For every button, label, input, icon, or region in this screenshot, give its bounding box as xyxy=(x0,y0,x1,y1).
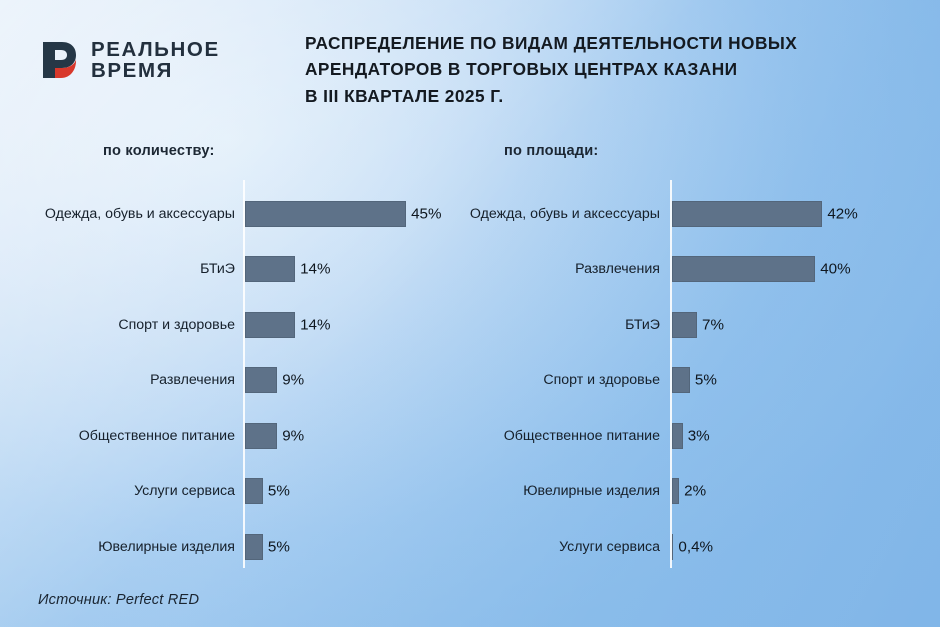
bar-category-label: БТиЭ xyxy=(445,316,660,334)
bar-row: Спорт и здоровье5% xyxy=(470,353,940,409)
bar-row: Общественное питание9% xyxy=(0,408,470,464)
page-title-line-3: В III КВАРТАЛЕ 2025 Г. xyxy=(305,83,920,109)
chart-title-by-count: по количеству: xyxy=(103,143,215,159)
brand-logo: РЕАЛЬНОЕ ВРЕМЯ xyxy=(38,38,220,82)
bar-category-label: Одежда, обувь и аксессуары xyxy=(20,205,235,223)
infographic-page: РЕАЛЬНОЕ ВРЕМЯ РАСПРЕДЕЛЕНИЕ ПО ВИДАМ ДЕ… xyxy=(0,0,940,627)
page-title-line-1: РАСПРЕДЕЛЕНИЕ ПО ВИДАМ ДЕЯТЕЛЬНОСТИ НОВЫ… xyxy=(305,30,920,56)
bar-category-label: БТиЭ xyxy=(20,260,235,278)
chart-panel-by-area: по площади: Одежда, обувь и аксессуары42… xyxy=(470,138,940,568)
bar-row: БТиЭ7% xyxy=(470,297,940,353)
bar-row: БТиЭ14% xyxy=(0,242,470,298)
bar-category-label: Услуги сервиса xyxy=(445,538,660,556)
header: РЕАЛЬНОЕ ВРЕМЯ РАСПРЕДЕЛЕНИЕ ПО ВИДАМ ДЕ… xyxy=(0,0,940,126)
bar xyxy=(245,256,295,282)
page-title: РАСПРЕДЕЛЕНИЕ ПО ВИДАМ ДЕЯТЕЛЬНОСТИ НОВЫ… xyxy=(305,30,920,109)
bar-category-label: Одежда, обувь и аксессуары xyxy=(445,205,660,223)
bar-category-label: Спорт и здоровье xyxy=(20,316,235,334)
bar-category-label: Услуги сервиса xyxy=(20,482,235,500)
bar-row: Одежда, обувь и аксессуары45% xyxy=(0,186,470,242)
bar-value-label: 3% xyxy=(688,427,710,444)
chart-title-by-area: по площади: xyxy=(504,143,599,159)
realnoe-vremya-logo-icon xyxy=(38,38,82,82)
bar-value-label: 9% xyxy=(282,372,304,389)
bar-value-label: 42% xyxy=(827,205,857,222)
plot-area-by-count: Одежда, обувь и аксессуары45%БТиЭ14%Спор… xyxy=(0,180,470,568)
bar-row: Спорт и здоровье14% xyxy=(0,297,470,353)
bar-category-label: Общественное питание xyxy=(20,427,235,445)
bar-category-label: Общественное питание xyxy=(445,427,660,445)
bar xyxy=(672,534,673,560)
bar-value-label: 2% xyxy=(684,483,706,500)
page-title-line-2: АРЕНДАТОРОВ В ТОРГОВЫХ ЦЕНТРАХ КАЗАНИ xyxy=(305,56,920,82)
bar-category-label: Развлечения xyxy=(20,371,235,389)
bar xyxy=(672,367,690,393)
bar xyxy=(245,367,277,393)
bar-row: Услуги сервиса0,4% xyxy=(470,519,940,575)
bar xyxy=(245,201,406,227)
bar-value-label: 0,4% xyxy=(678,538,713,555)
bar-row: Общественное питание3% xyxy=(470,408,940,464)
bar-row: Развлечения9% xyxy=(0,353,470,409)
bar-category-label: Ювелирные изделия xyxy=(20,538,235,556)
bar-value-label: 9% xyxy=(282,427,304,444)
bar-row: Ювелирные изделия5% xyxy=(0,519,470,575)
bar xyxy=(672,201,822,227)
bar xyxy=(672,478,679,504)
bar-row: Услуги сервиса5% xyxy=(0,464,470,520)
bar-value-label: 14% xyxy=(300,316,330,333)
bar-value-label: 5% xyxy=(268,538,290,555)
chart-panel-by-count: по количеству: Одежда, обувь и аксессуар… xyxy=(0,138,470,568)
source-note: Источник: Perfect RED xyxy=(38,592,199,608)
bar-category-label: Развлечения xyxy=(445,260,660,278)
bar-value-label: 7% xyxy=(702,316,724,333)
brand-wordmark: РЕАЛЬНОЕ ВРЕМЯ xyxy=(91,39,220,82)
bar-value-label: 5% xyxy=(268,483,290,500)
bar-row: Ювелирные изделия2% xyxy=(470,464,940,520)
brand-line-2: ВРЕМЯ xyxy=(91,60,220,81)
bar xyxy=(245,423,277,449)
brand-line-1: РЕАЛЬНОЕ xyxy=(91,39,220,60)
bar-value-label: 40% xyxy=(820,261,850,278)
bar-category-label: Ювелирные изделия xyxy=(445,482,660,500)
bar-row: Развлечения40% xyxy=(470,242,940,298)
bar xyxy=(672,256,815,282)
bar xyxy=(245,534,263,560)
bar-value-label: 14% xyxy=(300,261,330,278)
bar-row: Одежда, обувь и аксессуары42% xyxy=(470,186,940,242)
bar-value-label: 45% xyxy=(411,205,441,222)
bar xyxy=(245,478,263,504)
bar-category-label: Спорт и здоровье xyxy=(445,371,660,389)
bar xyxy=(672,312,697,338)
plot-area-by-area: Одежда, обувь и аксессуары42%Развлечения… xyxy=(470,180,940,568)
bar xyxy=(245,312,295,338)
bar xyxy=(672,423,683,449)
bar-value-label: 5% xyxy=(695,372,717,389)
